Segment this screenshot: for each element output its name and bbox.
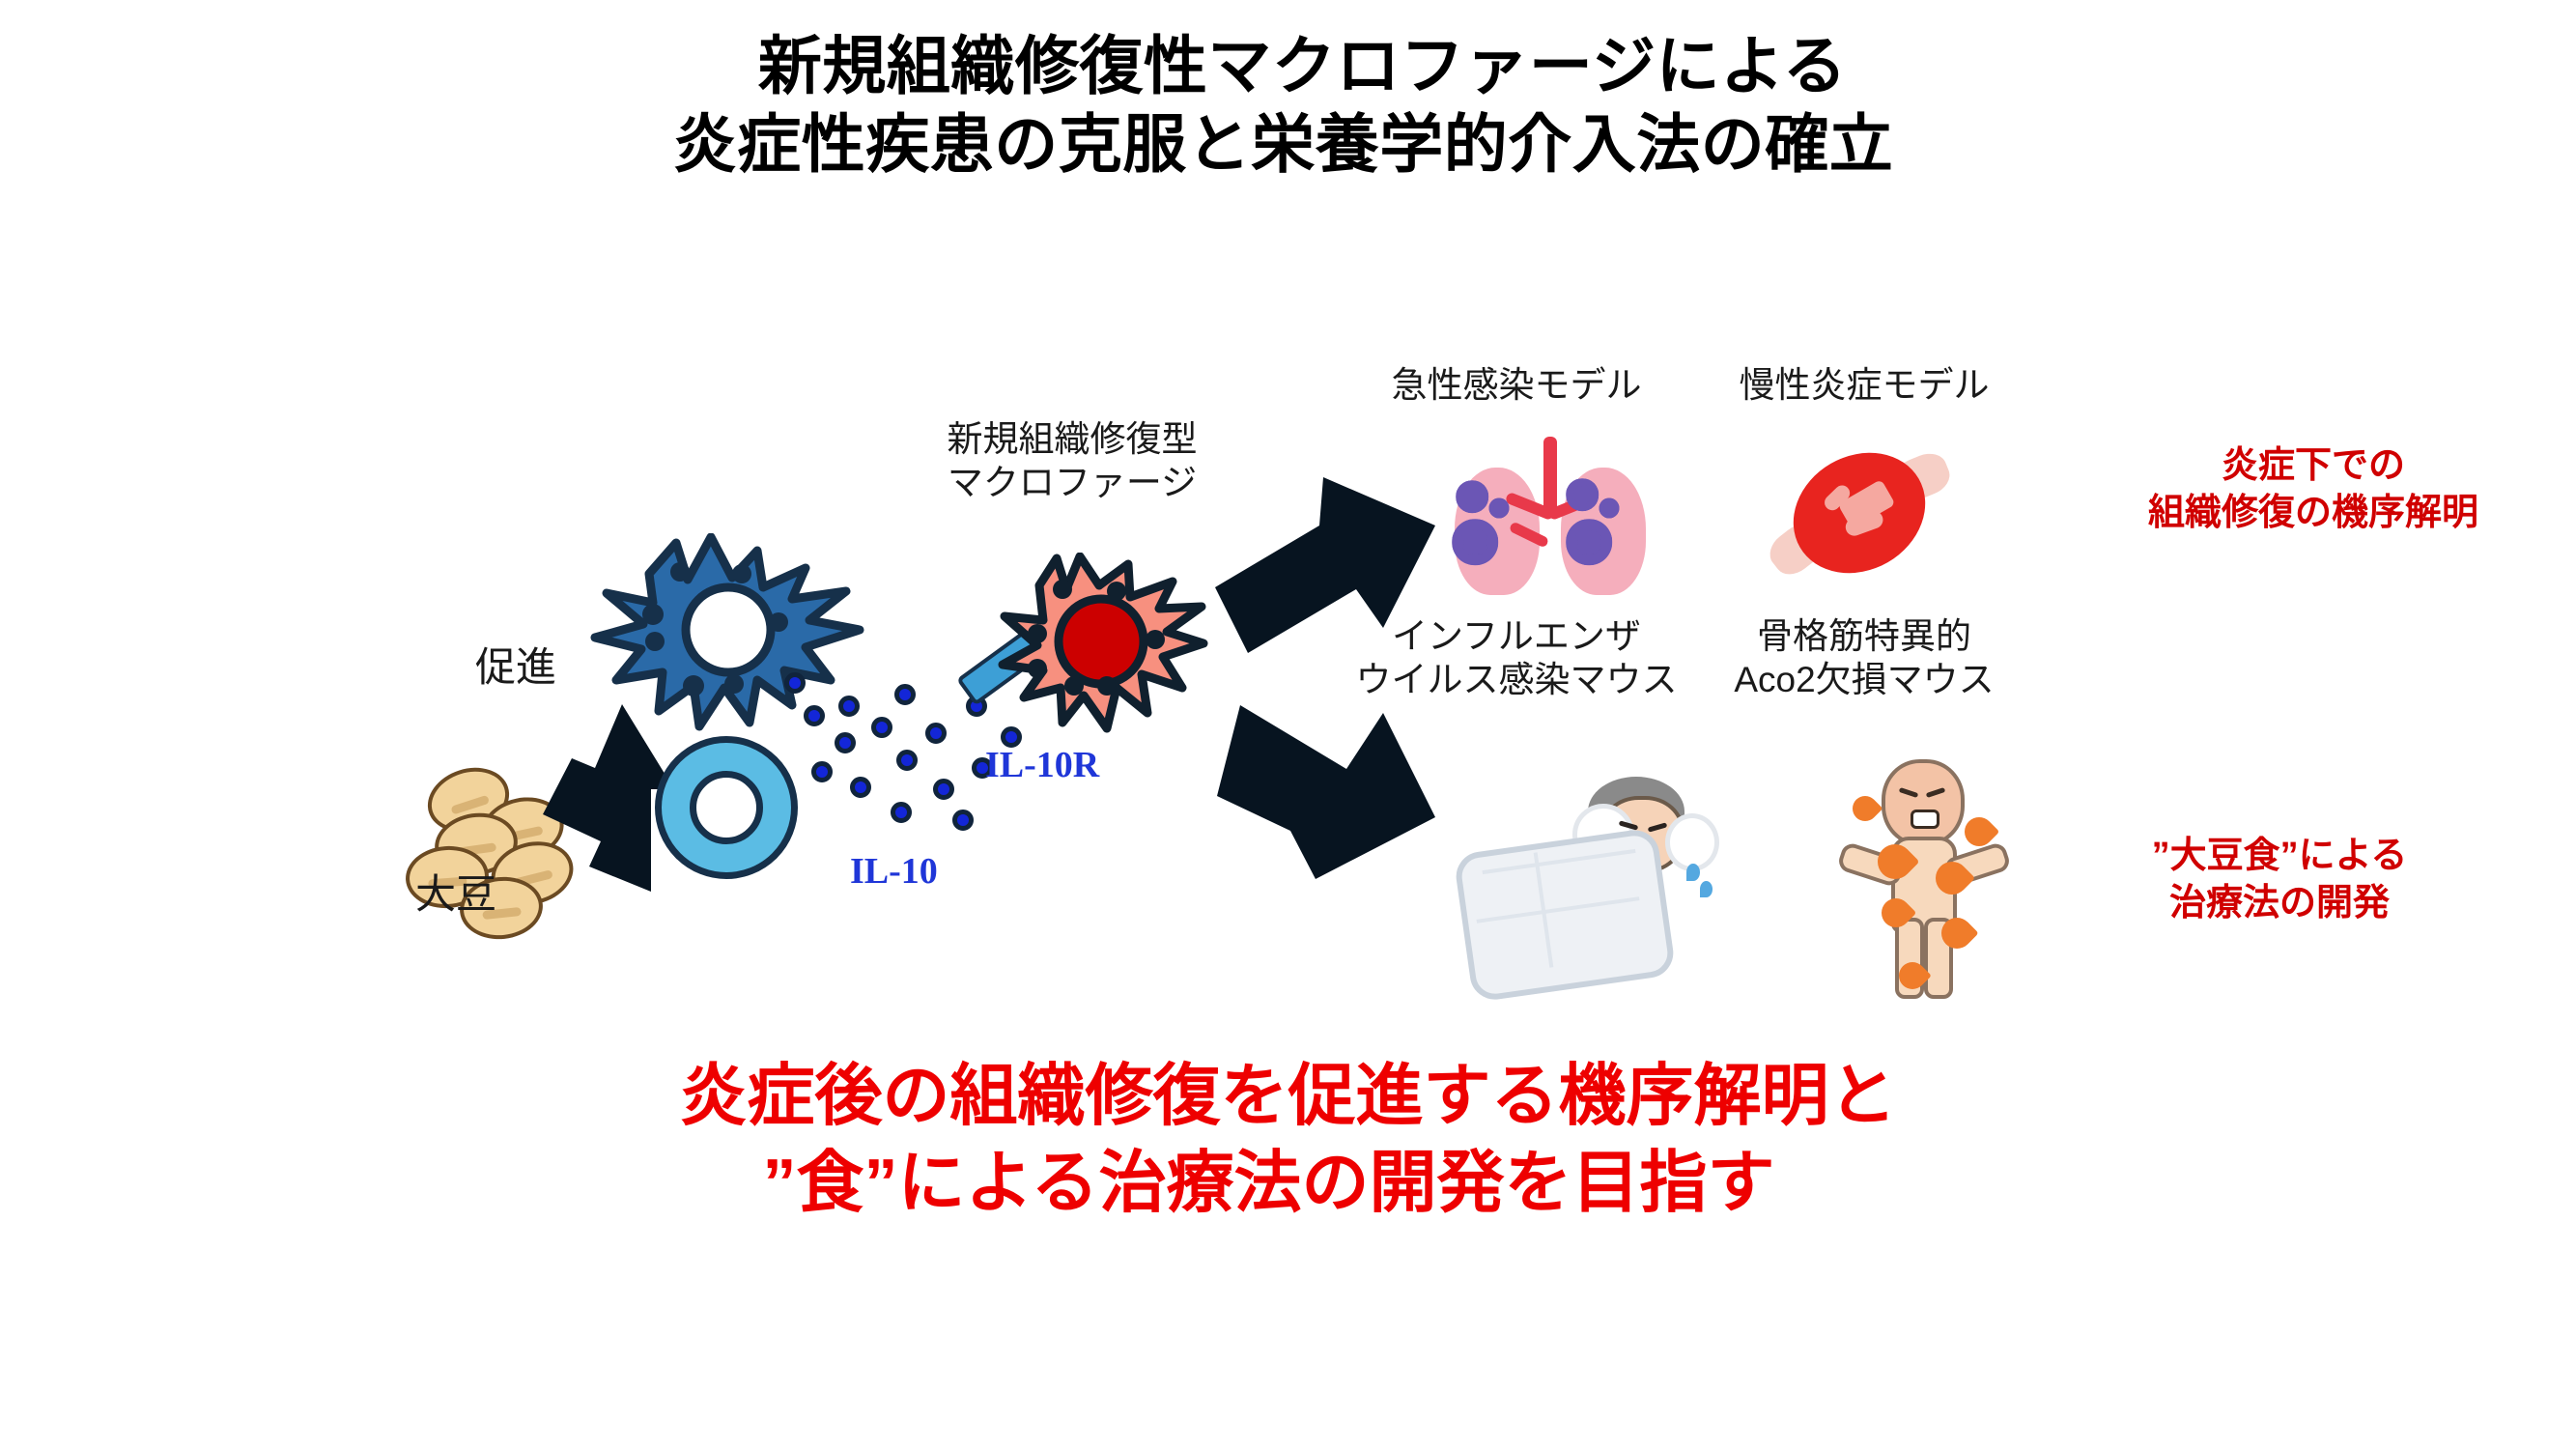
conclusion-line-1: 炎症後の組織修復を促進する機序解明と: [0, 1053, 2576, 1140]
lungs-virus-icon: [1449, 437, 1652, 601]
model-header-chronic-inflammation: 慢性炎症モデル: [1700, 363, 2028, 407]
title-line-1: 新規組織修復性マクロファージによる: [29, 27, 2576, 105]
outcome-mechanism-line2: 組織修復の機序解明: [2086, 490, 2540, 537]
inflamed-person-icon: [1806, 755, 2019, 997]
light-blue-cell-nucleus: [690, 771, 763, 844]
model-caption-chronic-line2: Aco2欠損マウス: [1700, 658, 2028, 701]
macrophage-caption-line1: 新規組織修復型: [869, 417, 1275, 461]
model-caption-chronic-line1: 骨格筋特異的: [1700, 614, 2028, 658]
outcome-mechanism: 炎症下での 組織修復の機序解明: [2086, 442, 2540, 538]
model-caption-acute-infection: インフルエンザ ウイルス感染マウス: [1352, 614, 1681, 701]
model-caption-chronic-inflammation: 骨格筋特異的 Aco2欠損マウス: [1700, 614, 2028, 701]
il10r-label: IL-10R: [985, 744, 1099, 786]
outcome-soyfood-therapy: ”大豆食”による 治療法の開発: [2038, 833, 2521, 928]
il10-label: IL-10: [850, 850, 938, 893]
outcome-soyfood-line2: 治療法の開発: [2038, 880, 2521, 927]
page-title: 新規組織修復性マクロファージによる 炎症性疾患の克服と栄養学的介入法の確立: [0, 27, 2576, 183]
promote-label: 促進: [475, 642, 556, 692]
sick-person-in-futon-icon: [1457, 763, 1708, 985]
outcome-soyfood-line1: ”大豆食”による: [2038, 833, 2521, 880]
title-line-2: 炎症性疾患の克服と栄養学的介入法の確立: [0, 105, 2576, 184]
model-header-acute-infection: 急性感染モデル: [1352, 363, 1681, 407]
down-right-block-arrow: [1213, 699, 1445, 893]
poster-canvas: 新規組織修復性マクロファージによる 炎症性疾患の克服と栄養学的介入法の確立 大豆…: [0, 0, 2576, 1449]
soybean-label: 大豆: [415, 869, 496, 919]
pink-macrophage-icon: [983, 553, 1215, 765]
model-caption-acute-line1: インフルエンザ: [1352, 614, 1681, 658]
outcome-mechanism-line1: 炎症下での: [2086, 442, 2540, 490]
conclusion-line-2: ”食”による治療法の開発を目指す: [0, 1140, 2576, 1227]
model-caption-acute-line2: ウイルス感染マウス: [1352, 658, 1681, 701]
conclusion-block: 炎症後の組織修復を促進する機序解明と ”食”による治療法の開発を目指す: [0, 1053, 2576, 1226]
skeletal-muscle-icon: [1727, 384, 1993, 641]
